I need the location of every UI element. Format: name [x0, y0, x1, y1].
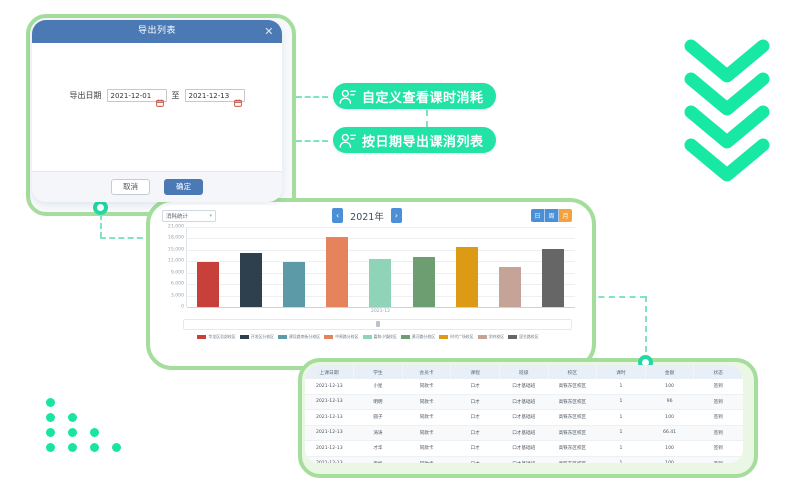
table-cell: 高铁东区校区: [548, 379, 597, 394]
table-cell: 才华: [354, 441, 403, 457]
legend-swatch: [401, 335, 410, 339]
callout-pill-2: 按日期导出课消列表: [333, 127, 496, 153]
y-axis-tick: 15,000: [168, 247, 184, 252]
table-cell: 高铁东区校区: [548, 425, 597, 441]
legend-swatch: [278, 335, 287, 339]
table-cell: 100: [645, 410, 694, 426]
table-cell: 同款卡: [402, 441, 451, 457]
table-cell: 口才基础班: [499, 394, 548, 410]
legend-label: 学府校区: [489, 334, 505, 340]
table-cell: 口才基础班: [499, 410, 548, 426]
table-cell: 高铁东区校区: [548, 441, 597, 457]
table-cell: 口才: [451, 425, 500, 441]
bar[interactable]: [369, 259, 391, 307]
table-cell: 1: [597, 456, 646, 463]
decorative-chevron-group: [683, 38, 783, 183]
legend-item[interactable]: 中原路分校区: [324, 334, 358, 340]
table-row[interactable]: 2021-12-13小星同款卡口才口才基础班高铁东区校区1100签到: [305, 379, 743, 394]
legend-item[interactable]: 昆仑路校区: [508, 334, 538, 340]
table-cell: 100: [645, 441, 694, 457]
legend-item[interactable]: 华龙区总部校区: [197, 334, 235, 340]
legend-item[interactable]: 时代广场校区: [439, 334, 473, 340]
table-cell: 高铁东区校区: [548, 394, 597, 410]
class-consumption-table: 上课日期学生会员卡课程班级校区课时金额状态 2021-12-13小星同款卡口才口…: [305, 365, 743, 463]
bar[interactable]: [456, 247, 478, 307]
connector-line: [426, 110, 428, 127]
bar[interactable]: [197, 262, 219, 307]
table-cell: 口才: [451, 394, 500, 410]
table-cell: 签到: [694, 379, 743, 394]
cancel-button[interactable]: 取消: [111, 179, 150, 195]
legend-swatch: [324, 335, 333, 339]
period-month-button[interactable]: 月: [559, 209, 572, 222]
table-cell: 签到: [694, 441, 743, 457]
y-axis-tick: 3,000: [171, 293, 184, 298]
legend-label: 时代广场校区: [450, 334, 473, 340]
y-axis-tick: 12,000: [168, 259, 184, 264]
table-header-cell: 状态: [694, 365, 743, 379]
table-cell: 高铁东区校区: [548, 456, 597, 463]
table-cell: 100: [645, 379, 694, 394]
table-cell: 1: [597, 394, 646, 410]
legend-label: 中原路分校区: [335, 334, 358, 340]
chevron-right-icon[interactable]: ›: [391, 208, 402, 223]
user-check-icon: [338, 131, 357, 150]
y-axis-tick: 9,000: [171, 270, 184, 275]
table-cell: 1: [597, 379, 646, 394]
dot: [68, 428, 77, 437]
date-range-separator: 至: [172, 90, 180, 101]
export-list-dialog: 导出列表 ✕ 导出日期 2021-12-01 至 2021-12-13: [32, 20, 282, 202]
canvas: 导出列表 ✕ 导出日期 2021-12-01 至 2021-12-13: [0, 0, 800, 500]
legend-swatch: [240, 335, 249, 339]
table-cell: 俊松: [354, 456, 403, 463]
chart-toolbar: 消耗统计 ▾ ‹ 2021年 › 日 周 月: [153, 205, 581, 227]
dot: [46, 413, 55, 422]
legend-label: 建设路南街分校区: [289, 334, 320, 340]
table-cell: 小星: [354, 379, 403, 394]
bar[interactable]: [542, 249, 564, 307]
scrollbar-thumb[interactable]: [376, 321, 380, 327]
connector-line: [296, 96, 328, 98]
legend-label: 华龙区总部校区: [208, 334, 235, 340]
end-date-input[interactable]: 2021-12-13: [185, 89, 245, 102]
legend-swatch: [197, 335, 206, 339]
dot: [46, 443, 55, 452]
dot: [46, 398, 55, 407]
table-cell: 同款卡: [402, 410, 451, 426]
table-row[interactable]: 2021-12-13俊松同款卡口才口才基础班高铁东区校区1100签到: [305, 456, 743, 463]
dot: [46, 428, 55, 437]
table-header-cell: 校区: [548, 365, 597, 379]
table-cell: 同款卡: [402, 379, 451, 394]
start-date-input[interactable]: 2021-12-01: [107, 89, 167, 102]
callout-text: 自定义查看课时消耗: [362, 87, 484, 106]
dialog-footer: 取消 确定: [32, 171, 282, 202]
connector-line: [100, 237, 152, 239]
callout-text: 按日期导出课消列表: [362, 131, 484, 150]
table-cell: 1: [597, 410, 646, 426]
connector-line: [645, 296, 647, 362]
table-header-cell: 金额: [645, 365, 694, 379]
table-row[interactable]: 2021-12-13涛涛同款卡口才口才基础班高铁东区校区166.41签到: [305, 425, 743, 441]
y-axis-tick: 18,000: [168, 236, 184, 241]
end-date-value: 2021-12-13: [189, 92, 234, 100]
chart-card: 消耗统计 ▾ ‹ 2021年 › 日 周 月 21,00018,00015,00…: [153, 205, 581, 355]
legend-swatch: [439, 335, 448, 339]
chart-legend: 华龙区总部校区开发区分校区建设路南街分校区中原路分校区嘉和小镇校区黄河路分校区时…: [163, 334, 573, 340]
legend-label: 嘉和小镇校区: [374, 334, 397, 340]
calendar-icon[interactable]: [234, 92, 242, 100]
table-cell: 口才: [451, 410, 500, 426]
table-cell: 同款卡: [402, 456, 451, 463]
date-range-row: 导出日期 2021-12-01 至 2021-12-13: [32, 89, 282, 102]
x-axis-label: 2021-12: [186, 309, 575, 314]
table-cell: 签到: [694, 394, 743, 410]
connector-node: [93, 200, 108, 215]
table-cell: 1: [597, 425, 646, 441]
legend-label: 黄河路分校区: [412, 334, 435, 340]
bar-series: [186, 227, 575, 307]
table-header-cell: 课程: [451, 365, 500, 379]
bar[interactable]: [499, 267, 521, 307]
table-cell: 66.41: [645, 425, 694, 441]
bar[interactable]: [413, 257, 435, 307]
dot: [68, 443, 77, 452]
table-row[interactable]: 2021-12-13圆子同款卡口才口才基础班高铁东区校区1100签到: [305, 410, 743, 426]
table-body: 2021-12-13小星同款卡口才口才基础班高铁东区校区1100签到2021-1…: [305, 379, 743, 463]
chevron-down-icon: [683, 137, 771, 183]
table-cell: 2021-12-13: [305, 379, 354, 394]
dialog-titlebar: 导出列表 ✕: [32, 20, 282, 43]
table-cell: 同款卡: [402, 425, 451, 441]
table-header-cell: 会员卡: [402, 365, 451, 379]
connector-line: [100, 214, 102, 238]
table-header-cell: 班级: [499, 365, 548, 379]
legend-label: 昆仑路校区: [519, 334, 538, 340]
period-week-button[interactable]: 周: [545, 209, 559, 222]
year-navigator: ‹ 2021年 ›: [153, 208, 581, 223]
dialog-body: 导出日期 2021-12-01 至 2021-12-13: [32, 43, 282, 171]
table-cell: 1: [597, 441, 646, 457]
table-cell: 口才基础班: [499, 379, 548, 394]
chevron-left-icon[interactable]: ‹: [332, 208, 343, 223]
dot: [112, 443, 121, 452]
table-header-cell: 学生: [354, 365, 403, 379]
callout-pill-1: 自定义查看课时消耗: [333, 83, 496, 109]
table-header-cell: 上课日期: [305, 365, 354, 379]
bar-chart-plot: 21,00018,00015,00012,0009,0006,0003,0000…: [153, 227, 581, 319]
table-cell: 签到: [694, 425, 743, 441]
table-cell: 口才基础班: [499, 425, 548, 441]
table-row[interactable]: 2021-12-13明明同款卡口才口才基础班高铁东区校区196签到: [305, 394, 743, 410]
table-header-row: 上课日期学生会员卡课程班级校区课时金额状态: [305, 365, 743, 379]
legend-item[interactable]: 黄河路分校区: [401, 334, 435, 340]
chart-year-label: 2021年: [350, 209, 384, 223]
period-segmented-control: 日 周 月: [531, 209, 572, 222]
table-row[interactable]: 2021-12-13才华同款卡口才口才基础班高铁东区校区1100签到: [305, 441, 743, 457]
user-check-icon: [338, 87, 357, 106]
export-date-label: 导出日期: [70, 90, 102, 101]
legend-item[interactable]: 学府校区: [478, 334, 505, 340]
bar[interactable]: [283, 262, 305, 307]
y-axis-tick: 21,000: [168, 225, 184, 230]
table-cell: 明明: [354, 394, 403, 410]
table-cell: 96: [645, 394, 694, 410]
table-cell: 同款卡: [402, 394, 451, 410]
table-cell: 2021-12-13: [305, 441, 354, 457]
legend-swatch: [363, 335, 372, 339]
table: 上课日期学生会员卡课程班级校区课时金额状态 2021-12-13小星同款卡口才口…: [305, 365, 743, 463]
table-cell: 口才: [451, 456, 500, 463]
table-head: 上课日期学生会员卡课程班级校区课时金额状态: [305, 365, 743, 379]
table-cell: 口才: [451, 379, 500, 394]
table-header-cell: 课时: [597, 365, 646, 379]
dot: [68, 413, 77, 422]
connector-line: [296, 140, 328, 142]
table-cell: 口才: [451, 441, 500, 457]
start-date-value: 2021-12-01: [111, 92, 156, 100]
dot: [90, 443, 99, 452]
chart-scrollbar[interactable]: [183, 319, 572, 330]
legend-item[interactable]: 建设路南街分校区: [278, 334, 320, 340]
dialog-title: 导出列表: [138, 26, 176, 36]
table-cell: 口才基础班: [499, 441, 548, 457]
calendar-icon[interactable]: [156, 92, 164, 100]
table-cell: 100: [645, 456, 694, 463]
bar[interactable]: [240, 253, 262, 307]
table-cell: 高铁东区校区: [548, 410, 597, 426]
connector-line: [588, 296, 646, 298]
y-axis-tick: 6,000: [171, 282, 184, 287]
table-cell: 2021-12-13: [305, 425, 354, 441]
gridline: [187, 307, 575, 308]
legend-item[interactable]: 开发区分校区: [240, 334, 274, 340]
table-cell: 签到: [694, 410, 743, 426]
legend-swatch: [478, 335, 487, 339]
confirm-button[interactable]: 确定: [164, 179, 203, 195]
legend-swatch: [508, 335, 517, 339]
legend-item[interactable]: 嘉和小镇校区: [363, 334, 397, 340]
decorative-dot-grid: [46, 398, 128, 454]
table-cell: 2021-12-13: [305, 394, 354, 410]
legend-label: 开发区分校区: [251, 334, 274, 340]
dot: [90, 428, 99, 437]
table-cell: 2021-12-13: [305, 410, 354, 426]
y-axis: 21,00018,00015,00012,0009,0006,0003,0000: [153, 227, 186, 307]
period-day-button[interactable]: 日: [531, 209, 545, 222]
close-icon[interactable]: ✕: [264, 20, 274, 43]
y-axis-tick: 0: [181, 305, 184, 310]
table-cell: 圆子: [354, 410, 403, 426]
table-cell: 涛涛: [354, 425, 403, 441]
table-cell: 口才基础班: [499, 456, 548, 463]
bar[interactable]: [326, 237, 348, 307]
